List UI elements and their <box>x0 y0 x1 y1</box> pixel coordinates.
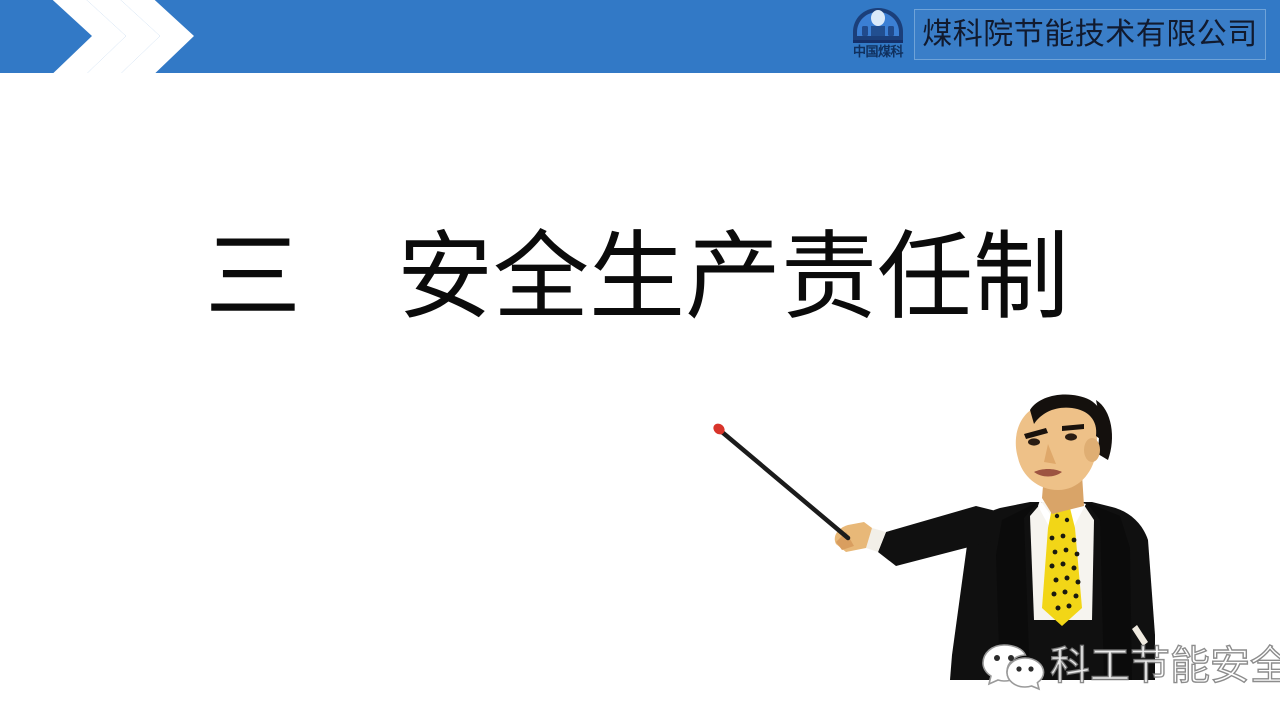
chevron-arrows-icon <box>0 0 200 73</box>
wechat-watermark: 科工节能安全 <box>980 635 1270 697</box>
watermark-text: 科工节能安全 <box>1050 644 1280 688</box>
china-coal-logo: 中国煤科 <box>842 4 914 68</box>
presentation-slide: 中国煤科 煤科院节能技术有限公司 三 安全生产责任制 <box>0 0 1280 720</box>
wechat-icon <box>980 641 1046 691</box>
company-name-box: 煤科院节能技术有限公司 <box>914 9 1266 60</box>
logo-caption: 中国煤科 <box>842 44 914 59</box>
slide-header-bar: 中国煤科 煤科院节能技术有限公司 <box>0 0 1280 73</box>
page-title: 三 安全生产责任制 <box>205 218 1085 336</box>
coal-emblem-icon <box>850 6 906 46</box>
company-name-text: 煤科院节能技术有限公司 <box>922 18 1258 52</box>
